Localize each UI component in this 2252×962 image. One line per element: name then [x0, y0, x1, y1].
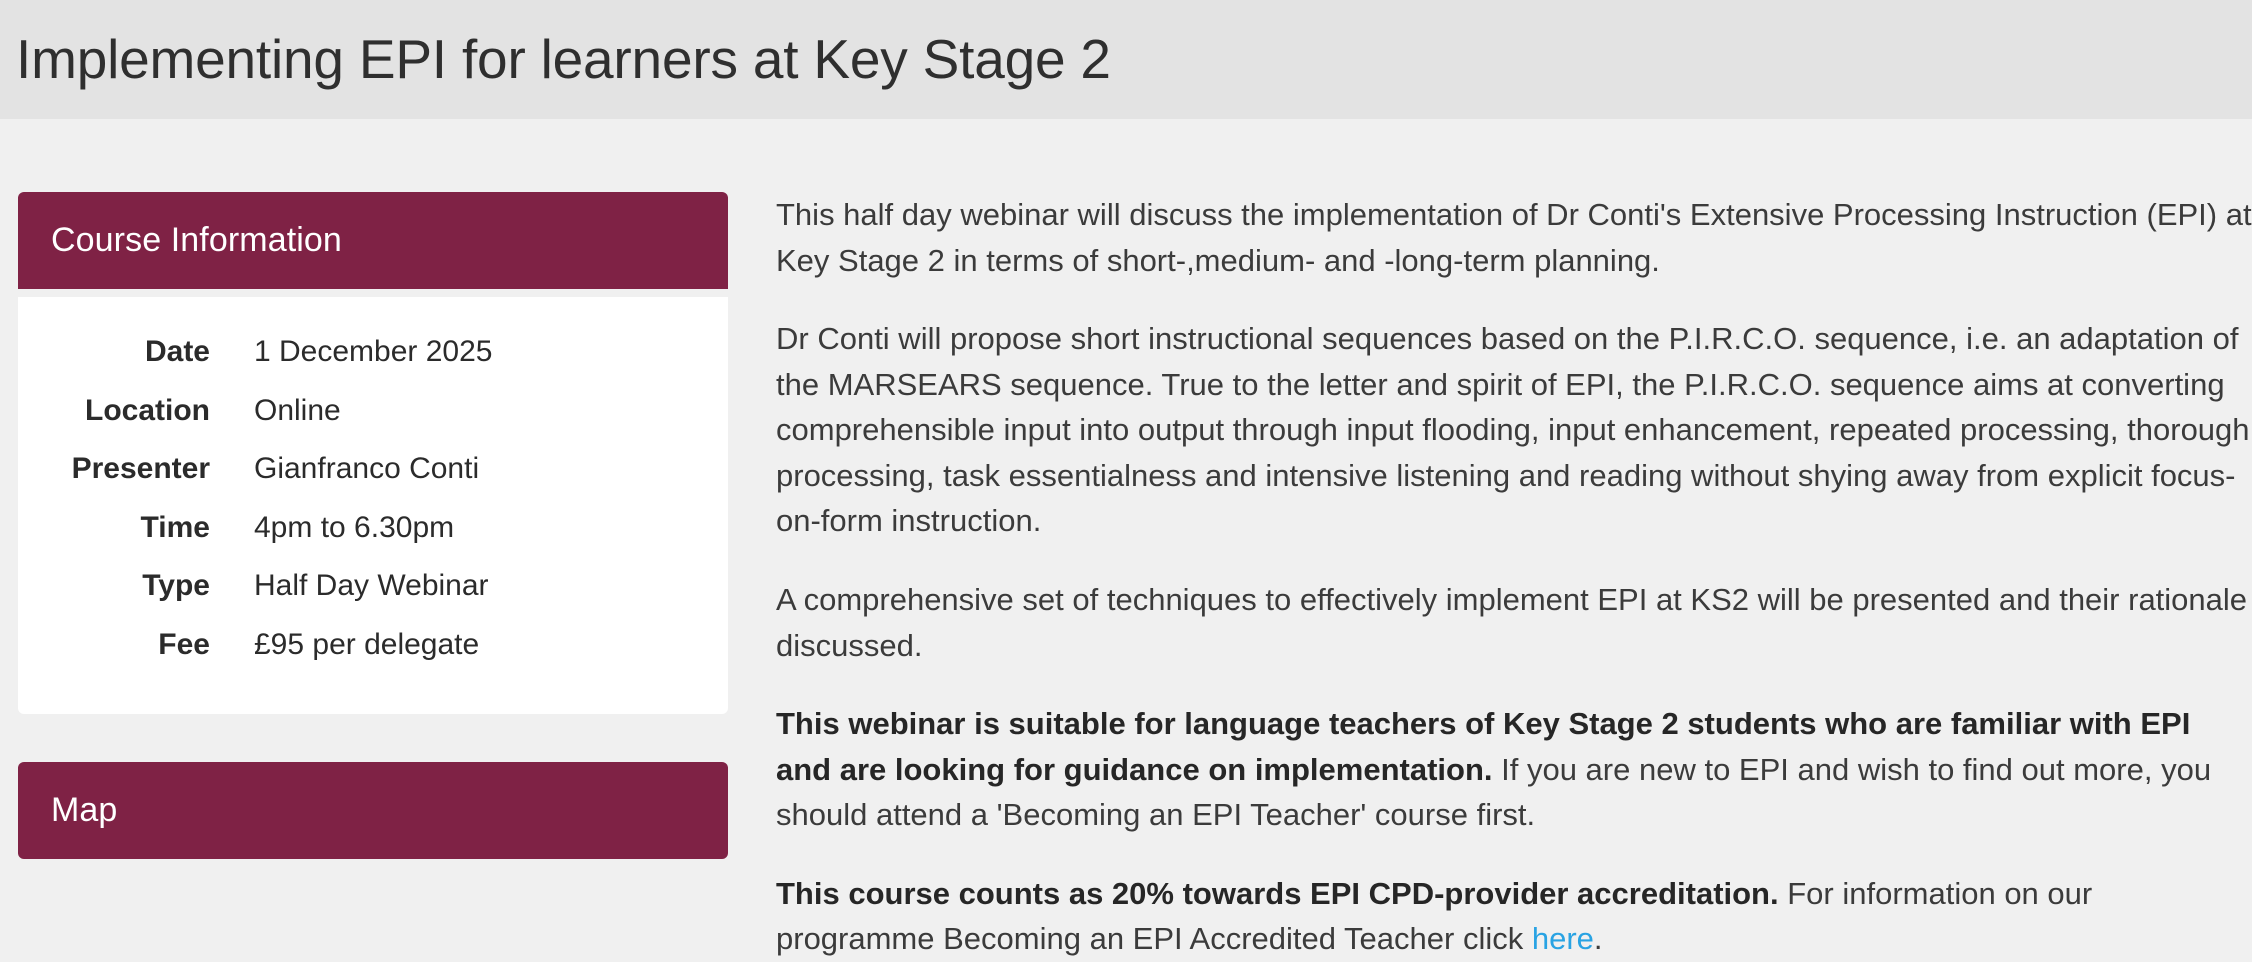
description-paragraph: This course counts as 20% towards EPI CP… [776, 871, 2252, 962]
course-info-label: Fee [18, 616, 210, 675]
page-layout: Course Information Date1 December 2025Lo… [0, 119, 2252, 962]
course-description: This half day webinar will discuss the i… [776, 192, 2252, 962]
description-paragraph: This half day webinar will discuss the i… [776, 192, 2252, 283]
page-header: Implementing EPI for learners at Key Sta… [0, 0, 2252, 119]
course-info-row: PresenterGianfranco Conti [18, 440, 728, 499]
course-info-value: 4pm to 6.30pm [210, 499, 728, 558]
course-info-row: Fee£95 per delegate [18, 616, 728, 675]
emphasis-text: This course counts as 20% towards EPI CP… [776, 876, 1779, 911]
paragraph-text: Dr Conti will propose short instructiona… [776, 321, 2250, 538]
course-info-row: Time4pm to 6.30pm [18, 499, 728, 558]
course-info-row: TypeHalf Day Webinar [18, 557, 728, 616]
course-info-label: Time [18, 499, 210, 558]
course-info-value: Online [210, 382, 728, 441]
course-info-value: Half Day Webinar [210, 557, 728, 616]
description-paragraph: A comprehensive set of techniques to eff… [776, 577, 2252, 668]
description-paragraph: Dr Conti will propose short instructiona… [776, 316, 2252, 544]
page-title: Implementing EPI for learners at Key Sta… [16, 29, 1111, 90]
course-information-panel: Course Information Date1 December 2025Lo… [18, 192, 728, 714]
course-info-value: 1 December 2025 [210, 323, 728, 382]
course-info-label: Location [18, 382, 210, 441]
course-info-row: LocationOnline [18, 382, 728, 441]
course-info-label: Type [18, 557, 210, 616]
course-info-row: Date1 December 2025 [18, 323, 728, 382]
map-heading: Map [18, 762, 728, 859]
course-info-label: Presenter [18, 440, 210, 499]
course-information-table: Date1 December 2025LocationOnlinePresent… [18, 323, 728, 674]
course-info-value: Gianfranco Conti [210, 440, 728, 499]
course-information-body: Date1 December 2025LocationOnlinePresent… [18, 297, 728, 714]
sidebar: Course Information Date1 December 2025Lo… [18, 192, 728, 859]
map-panel: Map [18, 762, 728, 859]
paragraph-text: A comprehensive set of techniques to eff… [776, 582, 2247, 663]
description-paragraph: This webinar is suitable for language te… [776, 701, 2252, 838]
course-info-label: Date [18, 323, 210, 382]
paragraph-text: . [1594, 921, 1603, 956]
course-info-value: £95 per delegate [210, 616, 728, 675]
here-link[interactable]: here [1532, 921, 1594, 956]
paragraph-text: This half day webinar will discuss the i… [776, 197, 2252, 278]
course-information-heading: Course Information [18, 192, 728, 289]
